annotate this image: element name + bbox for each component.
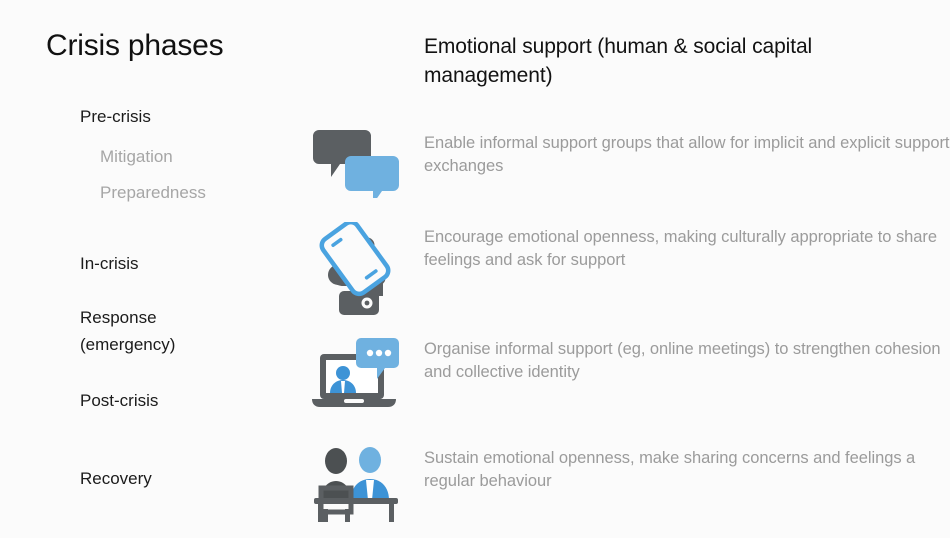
phase-item-in-crisis: In-crisis — [80, 250, 139, 277]
phase-item-preparedness: Preparedness — [100, 179, 206, 206]
phase-item-mitigation: Mitigation — [100, 143, 173, 170]
hand-holding-phone-icon — [317, 222, 395, 320]
row-description: Organise informal support (eg, online me… — [412, 334, 950, 385]
row-description: Enable informal support groups that allo… — [412, 128, 950, 179]
right-column-title: Emotional support (human & social capita… — [424, 33, 894, 91]
support-row: Enable informal support groups that allo… — [300, 128, 950, 198]
row-description: Encourage emotional openness, making cul… — [412, 222, 950, 273]
slide-canvas: Crisis phases Emotional support (human &… — [0, 0, 950, 538]
support-row: Organise informal support (eg, online me… — [300, 334, 950, 412]
two-people-at-table-icon — [306, 443, 406, 523]
support-row: Sustain emotional openness, make sharing… — [300, 443, 950, 523]
phase-item-post-crisis: Post-crisis — [80, 387, 158, 414]
row-icon-container — [300, 128, 412, 198]
support-row: Encourage emotional openness, making cul… — [300, 222, 950, 320]
phase-item-response: Response (emergency) — [80, 304, 175, 358]
crisis-phase-list: Pre-crisis Mitigation Preparedness In-cr… — [0, 0, 320, 538]
row-icon-container — [300, 443, 412, 523]
laptop-video-call-icon — [308, 334, 404, 412]
row-description: Sustain emotional openness, make sharing… — [412, 443, 950, 494]
row-icon-container — [300, 222, 412, 320]
phase-item-pre-crisis: Pre-crisis — [80, 103, 151, 130]
row-icon-container — [300, 334, 412, 412]
speech-bubbles-icon — [312, 128, 400, 198]
phase-item-recovery: Recovery — [80, 465, 152, 492]
